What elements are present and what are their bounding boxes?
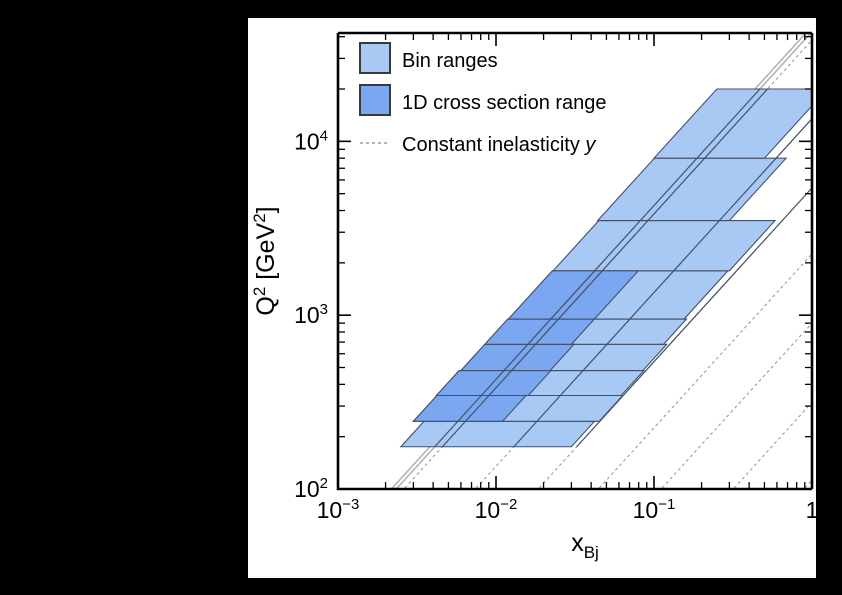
y-axis-title: Q2 [GeV2] xyxy=(250,206,280,315)
bin-range-cell xyxy=(401,421,595,446)
legend-swatch xyxy=(360,43,390,73)
x-tick-label: 1 xyxy=(806,497,816,523)
figure-root: 10−310−210−11102103104 xBjQ2 [GeV2] Bin … xyxy=(0,0,842,595)
plot-canvas-panel: 10−310−210−11102103104 xBjQ2 [GeV2] Bin … xyxy=(248,18,816,578)
legend-label: 1D cross section range xyxy=(402,92,607,114)
legend-swatch xyxy=(360,85,390,115)
x-tick-label: 10−1 xyxy=(633,496,676,523)
x-axis-title: xBj xyxy=(571,529,599,562)
x-tick-label: 10−3 xyxy=(317,496,360,523)
y-tick-label: 104 xyxy=(294,127,328,154)
y-tick-label: 103 xyxy=(294,301,328,328)
legend-label: Constant inelasticity y xyxy=(402,134,596,156)
kinematic-coverage-plot: 10−310−210−11102103104 xBjQ2 [GeV2] Bin … xyxy=(248,18,816,578)
bin-range-cell xyxy=(598,158,786,220)
bin-range-cell xyxy=(654,89,816,158)
plot-legend: Bin ranges1D cross section rangeConstant… xyxy=(360,43,607,156)
bin-range-cell xyxy=(553,221,775,271)
legend-label: Bin ranges xyxy=(402,50,498,72)
x-tick-label: 10−2 xyxy=(475,496,518,523)
